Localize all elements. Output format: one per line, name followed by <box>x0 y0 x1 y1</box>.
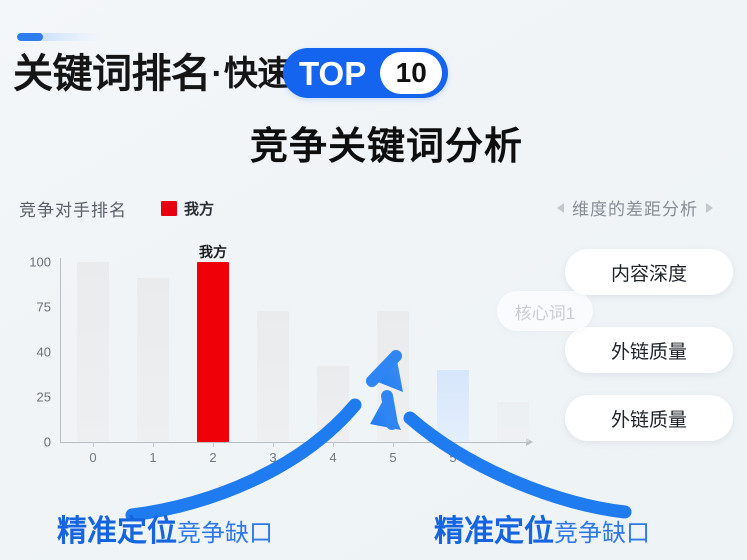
top-rank-badge: TOP 10 <box>283 48 448 98</box>
x-axis-tick-mark <box>333 442 334 447</box>
bar <box>257 311 289 442</box>
x-axis-tick-mark <box>213 442 214 447</box>
section-heading: 竞争关键词分析 <box>0 115 747 170</box>
bar <box>497 402 529 442</box>
y-axis-tick: 0 <box>44 435 60 450</box>
caption-left: 精准定位 竞争缺口 <box>57 506 273 550</box>
x-axis-tick-mark <box>453 442 454 447</box>
x-axis-tick: 5 <box>449 450 456 465</box>
bar <box>137 278 169 442</box>
bar-chart: 1007540250我方 0123455 <box>14 248 534 463</box>
y-axis-tick: 100 <box>29 255 60 270</box>
legend-label: 我方 <box>184 198 214 219</box>
panel-title: 维度的差距分析 <box>535 195 735 220</box>
dimension-pill-2[interactable]: 外链质量 <box>565 327 733 373</box>
badge-text: TOP <box>299 57 380 90</box>
x-axis-tick: 5 <box>389 450 396 465</box>
x-axis-tick-mark <box>153 442 154 447</box>
title-separator-dot: · <box>212 57 223 91</box>
bar-highlight <box>197 262 229 442</box>
y-axis-tick: 75 <box>37 300 60 315</box>
x-axis-line <box>60 442 530 443</box>
legend-swatch-icon <box>161 201 177 216</box>
title-row: 关键词排名 · 快速 <box>13 47 291 101</box>
caption-left-strong: 精准定位 <box>57 506 177 550</box>
bar <box>437 370 469 442</box>
panel-title-label: 维度的差距分析 <box>572 195 698 220</box>
ghost-keyword-pill[interactable]: 核心词1 <box>497 291 593 331</box>
y-axis-tick: 25 <box>37 390 60 405</box>
triangle-right-icon <box>706 203 713 213</box>
chart-axis-title: 竞争对手排名 <box>19 196 127 221</box>
badge-number: 10 <box>380 52 442 94</box>
ghost-keyword-label: 核心词1 <box>515 299 575 324</box>
triangle-left-icon <box>557 203 564 213</box>
dimension-pill-3[interactable]: 外链质量 <box>565 395 733 441</box>
chart-legend: 我方 <box>161 198 214 219</box>
x-axis-tick: 3 <box>269 450 276 465</box>
bar <box>77 262 109 442</box>
x-axis-tick-mark <box>393 442 394 447</box>
x-axis-tick-mark <box>273 442 274 447</box>
caption-right: 精准定位 竞争缺口 <box>434 506 650 550</box>
dimension-pill-2-label: 外链质量 <box>611 337 687 364</box>
x-axis-tick: 2 <box>209 450 216 465</box>
title-subtitle: 快速 <box>224 57 291 91</box>
dimension-pill-3-label: 外链质量 <box>611 405 687 432</box>
page-title: 关键词排名 <box>13 54 211 94</box>
dimension-pill-1-label: 内容深度 <box>611 259 687 286</box>
y-axis-tick: 40 <box>37 345 60 360</box>
caption-left-light: 竞争缺口 <box>177 513 273 548</box>
x-axis-tick-mark <box>93 442 94 447</box>
caption-right-strong: 精准定位 <box>434 506 554 550</box>
progress-fill <box>17 33 43 41</box>
plot-area: 1007540250我方 <box>60 262 534 442</box>
caption-right-light: 竞争缺口 <box>554 513 650 548</box>
bar-highlight-label: 我方 <box>199 242 227 262</box>
chart-header: 竞争对手排名 我方 <box>19 196 214 221</box>
x-axis-tick: 4 <box>329 450 336 465</box>
bar <box>317 366 349 442</box>
bar <box>377 311 409 442</box>
progress-decoration <box>17 33 109 41</box>
dimension-pill-1[interactable]: 内容深度 <box>565 249 733 295</box>
x-axis-tick: 0 <box>89 450 96 465</box>
x-axis-tick: 1 <box>149 450 156 465</box>
